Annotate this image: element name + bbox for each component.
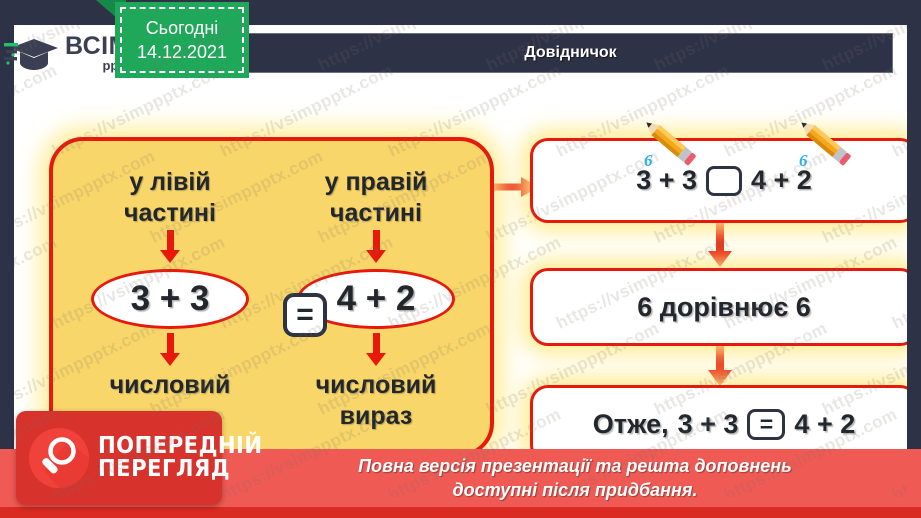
- conclusion-right: 4 + 2: [794, 409, 855, 440]
- left-down-arrow-top: [75, 230, 265, 263]
- left-down-arrow-bottom: [75, 333, 265, 366]
- magnifier-icon: [28, 427, 90, 489]
- down-arrow-step1-to-step2: [708, 221, 732, 267]
- conclusion-prefix: Отже,: [593, 409, 669, 440]
- left-part-column: у лівій частині 3 + 3 числовий: [75, 167, 265, 401]
- date-badge-value: 14.12.2021: [137, 42, 227, 63]
- preview-badge[interactable]: ПОПЕРЕДНІЙ ПЕРЕГЛЯД: [16, 411, 222, 505]
- preview-badge-text: ПОПЕРЕДНІЙ ПЕРЕГЛЯД: [98, 435, 263, 482]
- slide-root: у лівій частині 3 + 3 числовий = у п: [0, 0, 921, 518]
- pencil-value-right: 6: [799, 151, 808, 171]
- right-part-heading: у правій частині: [281, 167, 471, 228]
- empty-sign-chip[interactable]: [706, 166, 742, 196]
- preview-line-2: ПЕРЕГЛЯД: [98, 458, 263, 481]
- graduation-cap-icon: [4, 33, 60, 75]
- left-part-heading: у лівій частині: [75, 167, 265, 228]
- left-expression-ellipse: 3 + 3: [91, 269, 249, 329]
- right-part-footing: числовий вираз: [281, 370, 471, 431]
- brand-logo[interactable]: ВСІМ pptx: [4, 28, 129, 80]
- conclusion-expression: Отже, 3 + 3 = 4 + 2: [593, 409, 855, 440]
- footer-message: Повна версія презентації та решта доповн…: [255, 455, 895, 503]
- date-badge: Сьогодні 14.12.2021: [115, 2, 249, 78]
- preview-line-1: ПОПЕРЕДНІЙ: [98, 435, 263, 458]
- comparison-expression: 3 + 3 4 + 2: [636, 165, 812, 196]
- equals-chip: =: [283, 293, 327, 337]
- pencil-value-left: 6: [644, 151, 653, 171]
- page-title: Довідничок: [249, 34, 892, 72]
- right-down-arrow-bottom: [281, 333, 471, 366]
- left-part-footing: числовий: [75, 370, 265, 401]
- step-result-box: 6 дорівнює 6: [530, 268, 907, 346]
- right-down-arrow-top: [281, 230, 471, 263]
- yellow-concept-panel: у лівій частині 3 + 3 числовий = у п: [49, 137, 494, 457]
- conclusion-equals-chip: =: [747, 409, 785, 440]
- footer-line-1: Повна версія презентації та решта доповн…: [255, 455, 895, 479]
- header-bar: Довідничок: [248, 33, 893, 73]
- footer-line-2: доступні після придбання.: [255, 479, 895, 503]
- left-expression-wrap: 3 + 3: [75, 269, 265, 329]
- conclusion-left: 3 + 3: [678, 409, 739, 440]
- down-arrow-step2-to-step3: [708, 344, 732, 386]
- date-badge-label: Сьогодні: [146, 18, 219, 39]
- result-text: 6 дорівнює 6: [637, 292, 811, 323]
